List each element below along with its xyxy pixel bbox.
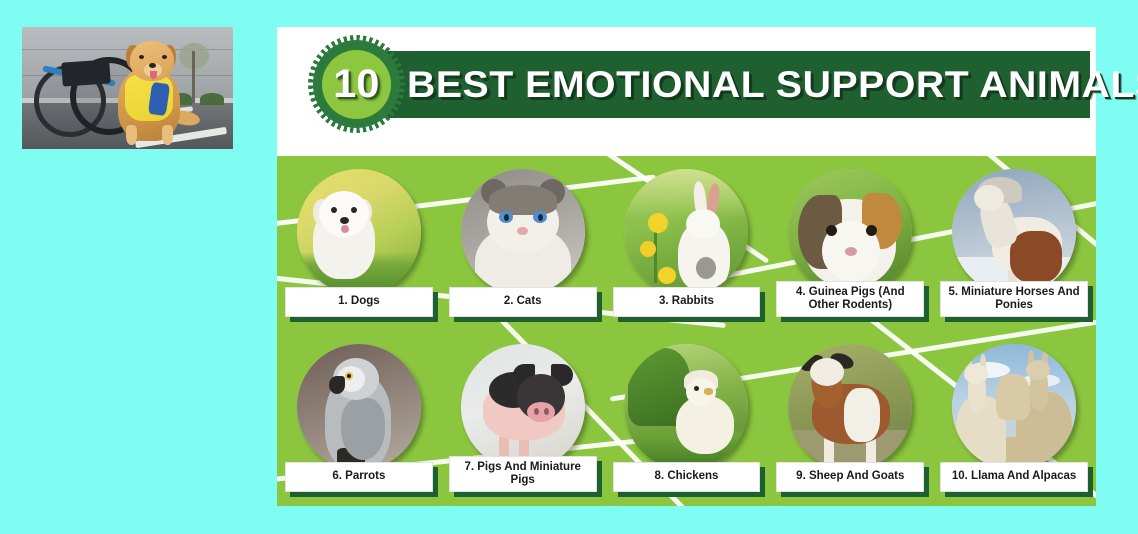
wheelchair-seat xyxy=(61,59,111,86)
animal-card-4[interactable]: 4. Guinea Pigs (And Other Rodents) xyxy=(768,156,932,331)
pig-photo xyxy=(461,344,585,470)
animal-card-6[interactable]: 6. Parrots xyxy=(277,331,441,506)
animal-label: 8. Chickens xyxy=(613,462,761,492)
thumbnail-tree xyxy=(177,41,211,103)
animal-card-7[interactable]: 7. Pigs And Miniature Pigs xyxy=(441,331,605,506)
cat-photo xyxy=(461,169,585,295)
animal-label: 7. Pigs And Miniature Pigs xyxy=(449,456,597,492)
miniature-horse-photo xyxy=(952,169,1076,295)
title-bar: BEST EMOTIONAL SUPPORT ANIMALS xyxy=(335,51,1090,118)
animal-card-8[interactable]: 8. Chickens xyxy=(605,331,769,506)
dog-nose xyxy=(149,63,156,68)
rank-count-badge: 10 xyxy=(313,40,400,128)
alpaca-photo xyxy=(952,344,1076,470)
infographic-header: BEST EMOTIONAL SUPPORT ANIMALS 10 xyxy=(277,27,1096,156)
guinea-pig-photo xyxy=(788,169,912,295)
animal-label: 2. Cats xyxy=(449,287,597,317)
dog-photo xyxy=(297,169,421,295)
animal-label: 4. Guinea Pigs (And Other Rodents) xyxy=(776,281,924,317)
animals-row: 1. Dogs 2. Cats xyxy=(277,156,1096,331)
animals-grid: 1. Dogs 2. Cats xyxy=(277,156,1096,506)
dog-leg xyxy=(162,125,173,145)
animal-card-3[interactable]: 3. Rabbits xyxy=(605,156,769,331)
animal-card-5[interactable]: 5. Miniature Horses And Ponies xyxy=(932,156,1096,331)
animal-label: 9. Sheep And Goats xyxy=(776,462,924,492)
animal-label: 5. Miniature Horses And Ponies xyxy=(940,281,1088,317)
badge-number: 10 xyxy=(333,62,379,107)
infographic-card: BEST EMOTIONAL SUPPORT ANIMALS 10 xyxy=(277,27,1096,506)
goat-photo xyxy=(788,344,912,470)
chicken-photo xyxy=(624,344,748,470)
rabbit-photo xyxy=(624,169,748,295)
animal-card-9[interactable]: 9. Sheep And Goats xyxy=(768,331,932,506)
animal-label: 3. Rabbits xyxy=(613,287,761,317)
service-dog-thumbnail-image xyxy=(22,27,233,149)
animal-label: 6. Parrots xyxy=(285,462,433,492)
parrot-photo xyxy=(297,344,421,470)
animal-card-1[interactable]: 1. Dogs xyxy=(277,156,441,331)
page-title: BEST EMOTIONAL SUPPORT ANIMALS xyxy=(407,64,1138,106)
dog-eye xyxy=(139,55,144,59)
animal-label: 10. Llama And Alpacas xyxy=(940,462,1088,492)
animal-label: 1. Dogs xyxy=(285,287,433,317)
dog-tongue xyxy=(150,71,157,79)
dog-eye xyxy=(162,55,167,59)
badge-inner-circle: 10 xyxy=(322,50,391,119)
dog-leg xyxy=(126,125,137,145)
animals-row: 6. Parrots 7. Pigs And Miniature Pigs xyxy=(277,331,1096,506)
animal-card-10[interactable]: 10. Llama And Alpacas xyxy=(932,331,1096,506)
animal-card-2[interactable]: 2. Cats xyxy=(441,156,605,331)
